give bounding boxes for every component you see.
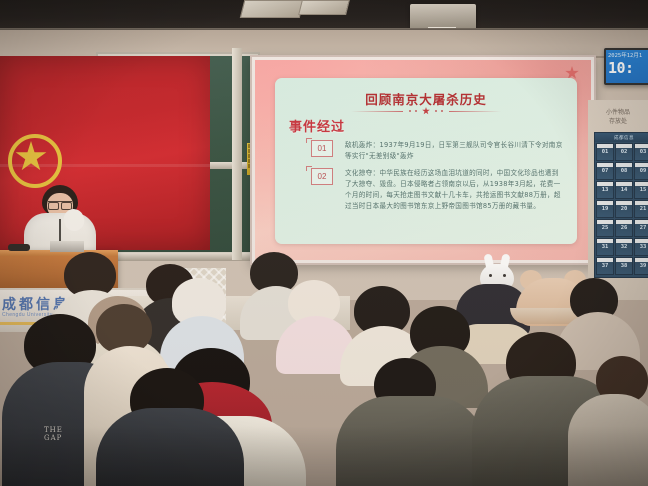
bullet-text: 敌机轰炸：1937年9月19日，日军第三舰队司令官长谷川清下令对南京等实行"无差… xyxy=(345,140,563,162)
audience-area: THE GAP xyxy=(0,250,648,486)
locker-door[interactable]: 03 xyxy=(634,143,648,161)
locker-number: 03 xyxy=(635,149,648,155)
board-divider-post xyxy=(232,48,242,260)
slide-background: 回顾南京大屠杀历史 事件经过 01 敌机轰炸：1937年9月19日，日军第三舰队… xyxy=(255,60,591,260)
locker-cabinet-header: 成都信息 xyxy=(595,133,648,142)
locker-number: 01 xyxy=(597,149,613,155)
locker-door[interactable]: 20 xyxy=(615,200,633,218)
slide-title-divider xyxy=(351,107,501,115)
digital-clock-display: 2025年12月1 10: xyxy=(604,48,648,85)
projection-screen: 回顾南京大屠杀历史 事件经过 01 敌机轰炸：1937年9月19日，日军第三舰队… xyxy=(250,55,596,265)
glasses-icon xyxy=(48,201,72,208)
locker-door[interactable]: 13 xyxy=(596,181,614,199)
locker-row: 131415 xyxy=(595,180,648,199)
slide-bullet-list: 01 敌机轰炸：1937年9月19日，日军第三舰队司令官长谷川清下令对南京等实行… xyxy=(311,140,563,218)
locker-number: 21 xyxy=(635,206,648,212)
locker-number: 19 xyxy=(597,206,613,212)
clock-date: 2025年12月1 xyxy=(608,51,642,59)
locker-door[interactable]: 25 xyxy=(596,219,614,237)
locker-door[interactable]: 26 xyxy=(615,219,633,237)
locker-number: 08 xyxy=(616,168,632,174)
bullet-number: 02 xyxy=(311,168,333,185)
classroom-scene: 回顾南京大屠杀历史 事件经过 01 敌机轰炸：1937年9月19日，日军第三舰队… xyxy=(0,0,648,486)
locker-number: 15 xyxy=(635,187,648,193)
locker-door[interactable]: 01 xyxy=(596,143,614,161)
locker-door[interactable]: 21 xyxy=(634,200,648,218)
locker-door[interactable]: 07 xyxy=(596,162,614,180)
locker-door[interactable]: 15 xyxy=(634,181,648,199)
clock-time: 10: xyxy=(608,59,634,77)
locker-row: 010203 xyxy=(595,142,648,161)
locker-number: 20 xyxy=(616,206,632,212)
bullet-number: 01 xyxy=(311,140,333,157)
locker-door[interactable]: 14 xyxy=(615,181,633,199)
ceiling-vent-secondary-icon xyxy=(298,0,350,15)
locker-number: 02 xyxy=(616,149,632,155)
locker-sign-line2: 存放处 xyxy=(588,117,648,126)
foreground-shadow xyxy=(0,426,648,486)
ceiling xyxy=(0,0,648,30)
slide-content-card: 回顾南京大屠杀历史 事件经过 01 敌机轰炸：1937年9月19日，日军第三舰队… xyxy=(275,78,577,244)
locker-number: 07 xyxy=(597,168,613,174)
divider-star-icon xyxy=(422,107,430,115)
locker-number: 09 xyxy=(635,168,648,174)
locker-row: 192021 xyxy=(595,199,648,218)
slide-heading: 事件经过 xyxy=(289,116,345,135)
locker-number: 27 xyxy=(635,225,648,231)
locker-door[interactable]: 19 xyxy=(596,200,614,218)
locker-sign-line1: 小件物品 xyxy=(588,108,648,117)
locker-number: 26 xyxy=(616,225,632,231)
locker-door[interactable]: 08 xyxy=(615,162,633,180)
list-item: 02 文化掠夺：中华民族在经历这场血泪坑道的同时，中国文化珍品也遭到了大掠夺、毁… xyxy=(311,168,563,212)
locker-door[interactable]: 27 xyxy=(634,219,648,237)
bullet-text: 文化掠夺：中华民族在经历这场血泪坑道的同时，中国文化珍品也遭到了大掠夺、毁盘。日… xyxy=(345,168,563,212)
locker-door[interactable]: 02 xyxy=(615,143,633,161)
locker-door[interactable]: 09 xyxy=(634,162,648,180)
slide-title: 回顾南京大屠杀历史 xyxy=(275,89,577,108)
list-item: 01 敌机轰炸：1937年9月19日，日军第三舰队司令官长谷川清下令对南京等实行… xyxy=(311,140,563,162)
locker-number: 25 xyxy=(597,225,613,231)
locker-sign: 小件物品 存放处 xyxy=(588,108,648,126)
locker-row: 252627 xyxy=(595,218,648,237)
locker-number: 13 xyxy=(597,187,613,193)
locker-number: 14 xyxy=(616,187,632,193)
locker-row: 070809 xyxy=(595,161,648,180)
ceiling-vent-icon xyxy=(240,0,304,18)
